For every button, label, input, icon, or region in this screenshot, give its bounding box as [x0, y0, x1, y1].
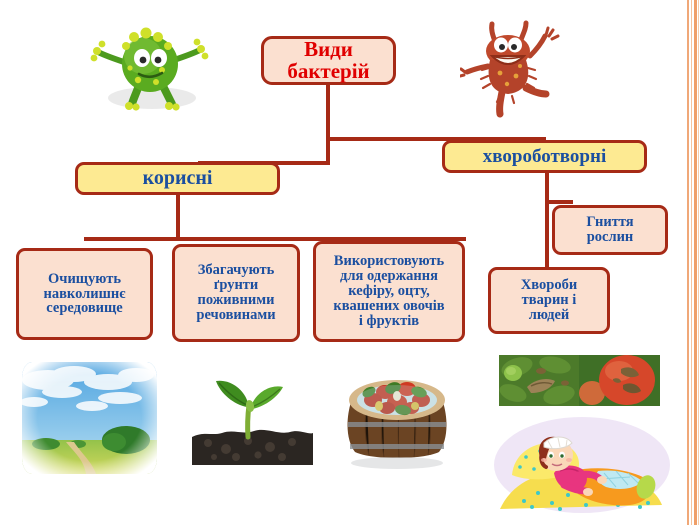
node-u2-line3: поживними — [198, 292, 275, 308]
node-u2-line4: речовинами — [196, 307, 275, 323]
node-p1-line1: Гниття — [586, 214, 633, 230]
sick-child-in-bed-image — [490, 413, 675, 518]
node-pathogenic-plant-rot[interactable]: Гниття рослин — [552, 205, 668, 255]
connector-root-down — [326, 85, 330, 165]
node-u1-line3: середовище — [46, 300, 122, 316]
node-p2-line3: людей — [529, 307, 570, 323]
node-pathogenic-label: хвороботворні — [480, 147, 609, 167]
node-bacteria-types-root[interactable]: Види бактерій — [261, 36, 396, 85]
connector-pathogenic-to-rot — [545, 200, 573, 204]
landscape-photo — [22, 362, 157, 474]
node-root-line1: Види — [304, 37, 353, 61]
node-u3-line2: для одержання — [340, 268, 438, 284]
node-useful-bacteria[interactable]: корисні — [75, 162, 280, 195]
node-useful-clean-environment[interactable]: Очищують навколишнє середовище — [16, 248, 153, 340]
node-u3-line1: Використовують — [334, 253, 444, 269]
green-germ-cartoon-image — [90, 22, 210, 112]
red-germ-cartoon-image — [460, 18, 560, 118]
connector-useful-down — [176, 193, 180, 241]
node-u3-line3: кефіру, оцту, — [348, 283, 430, 299]
node-u1-line2: навколишнє — [43, 286, 125, 302]
node-p1-line2: рослин — [587, 229, 634, 245]
pickled-vegetables-barrel-photo — [333, 360, 461, 472]
node-useful-enrich-soil[interactable]: Збагачують ґрунти поживними речовинами — [172, 244, 300, 342]
node-u3-line4: квашених овочів — [333, 298, 444, 314]
node-pathogenic-bacteria[interactable]: хвороботворні — [442, 140, 647, 173]
node-useful-food-production[interactable]: Використовують для одержання кефіру, оцт… — [313, 241, 465, 342]
node-p2-line1: Хвороби — [521, 277, 577, 293]
node-useful-label: корисні — [140, 168, 216, 189]
diseased-tomato-photo — [497, 353, 662, 408]
node-p2-line2: тварин і — [522, 292, 577, 308]
node-u3-line5: і фруктів — [359, 313, 419, 329]
connector-pathogenic-down — [545, 171, 549, 271]
node-root-line2: бактерій — [287, 59, 369, 83]
node-pathogenic-animal-human-disease[interactable]: Хвороби тварин і людей — [488, 267, 610, 334]
node-u1-line1: Очищують — [48, 271, 121, 287]
sprout-in-soil-photo — [190, 365, 315, 470]
node-u2-line2: ґрунти — [214, 277, 259, 293]
node-u2-line1: Збагачують — [198, 262, 275, 278]
